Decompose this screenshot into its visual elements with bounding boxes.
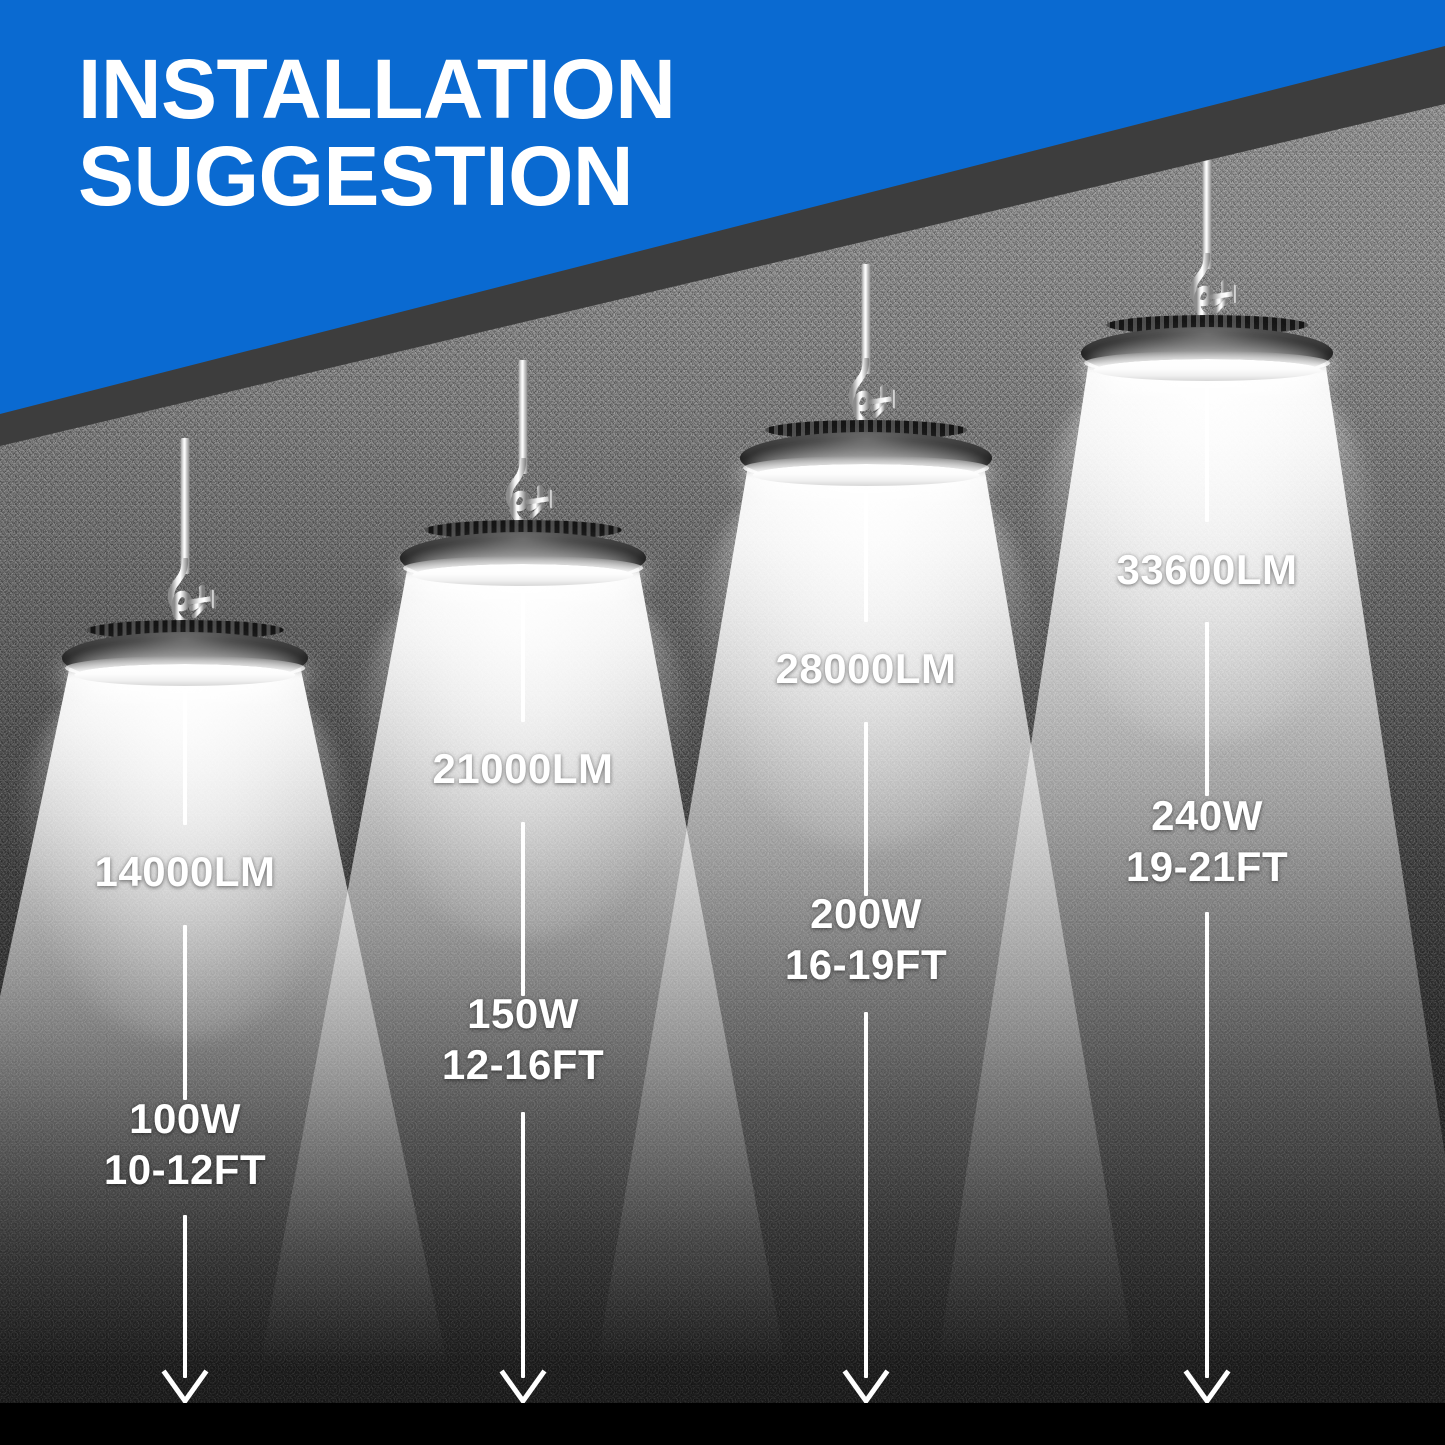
installation-suggestion-infographic: 14000LM100W10-12FT 21000LM150W12-16FT 28… bbox=[0, 0, 1445, 1445]
measure-line-stub bbox=[864, 490, 868, 496]
mount-height-value: 19-21FT bbox=[1126, 841, 1288, 892]
led-lens bbox=[1094, 359, 1321, 381]
measure-line-middle bbox=[521, 822, 525, 996]
measure-line-middle bbox=[1205, 622, 1209, 796]
wattage-value: 240W bbox=[1126, 790, 1288, 841]
lumens-label: 14000LM bbox=[95, 848, 276, 896]
measure-line-stub bbox=[1205, 385, 1209, 392]
mount-height-value: 10-12FT bbox=[104, 1144, 266, 1195]
ufo-high-bay-light bbox=[400, 360, 646, 586]
led-lens bbox=[753, 464, 980, 486]
lumens-label: 33600LM bbox=[1117, 546, 1298, 594]
page-title: INSTALLATION SUGGESTION bbox=[78, 46, 675, 219]
wattage-value: 150W bbox=[442, 988, 604, 1039]
measure-line-lower bbox=[864, 1012, 868, 1378]
hanging-rod-icon bbox=[1203, 148, 1212, 269]
measure-line-lower bbox=[183, 1215, 187, 1378]
lumens-label: 28000LM bbox=[776, 645, 957, 693]
measure-line-lower bbox=[521, 1112, 525, 1378]
measure-line-stub bbox=[183, 690, 187, 696]
led-lens bbox=[74, 664, 295, 686]
measure-line-upper bbox=[1205, 392, 1209, 522]
wattage-value: 100W bbox=[104, 1093, 266, 1144]
measure-line-upper bbox=[864, 496, 868, 622]
measure-line-upper bbox=[183, 696, 187, 825]
wattage-height-label: 100W10-12FT bbox=[104, 1093, 266, 1195]
hanging-rod-icon bbox=[519, 360, 528, 474]
ufo-high-bay-light bbox=[1081, 148, 1333, 381]
led-lens bbox=[412, 564, 633, 586]
mount-height-value: 16-19FT bbox=[785, 939, 947, 990]
wattage-height-label: 200W16-19FT bbox=[785, 888, 947, 990]
measure-line-upper bbox=[521, 596, 525, 722]
lumens-label: 21000LM bbox=[433, 745, 614, 793]
floor-band bbox=[0, 1403, 1445, 1445]
measure-line-stub bbox=[521, 590, 525, 596]
wattage-height-label: 150W12-16FT bbox=[442, 988, 604, 1090]
hanging-rod-icon bbox=[181, 438, 190, 574]
wattage-height-label: 240W19-21FT bbox=[1126, 790, 1288, 892]
measure-line-lower bbox=[1205, 912, 1209, 1378]
measure-line-middle bbox=[864, 722, 868, 896]
mount-height-value: 12-16FT bbox=[442, 1039, 604, 1090]
ufo-high-bay-light bbox=[62, 438, 308, 686]
ufo-high-bay-light bbox=[740, 264, 992, 486]
wattage-value: 200W bbox=[785, 888, 947, 939]
measure-line-middle bbox=[183, 925, 187, 1100]
